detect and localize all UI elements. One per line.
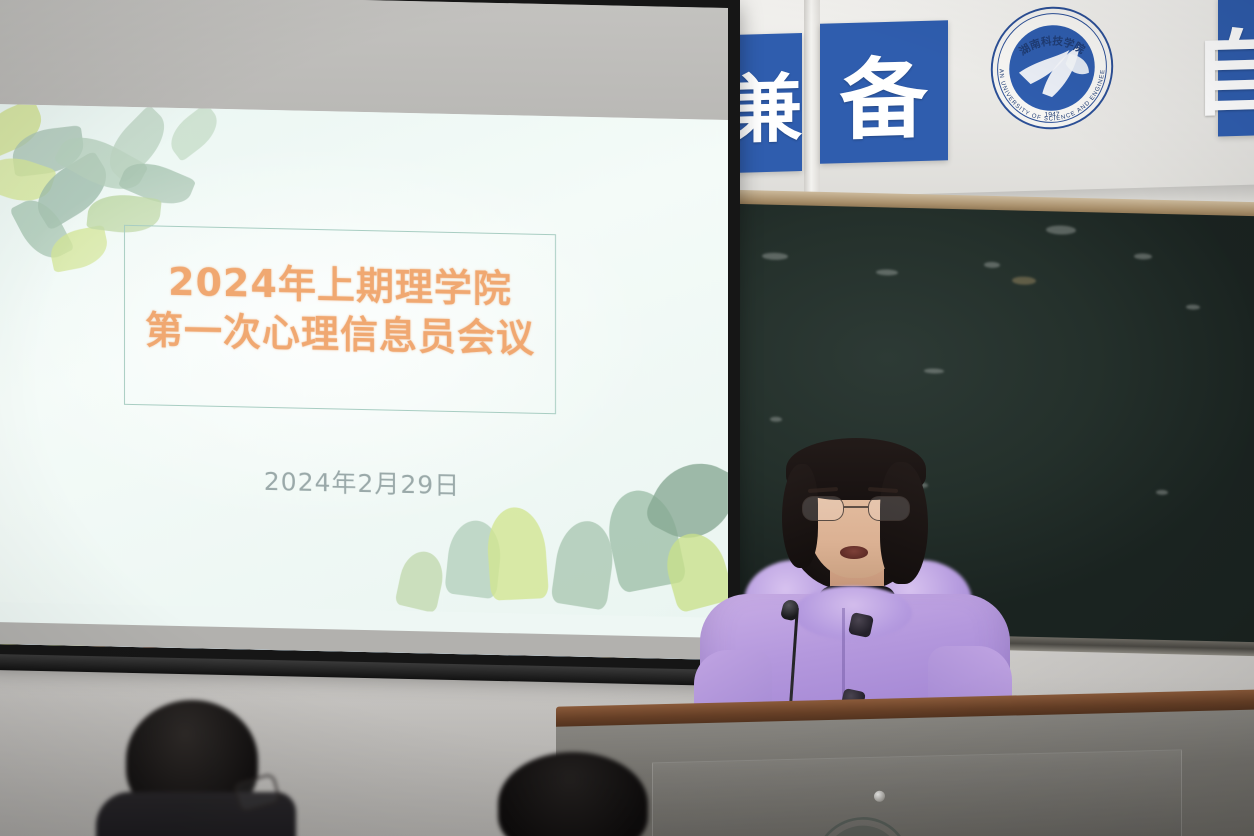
glasses-lens-right	[868, 496, 910, 521]
glasses-bridge	[844, 506, 868, 508]
coat-toggle-upper	[848, 612, 874, 638]
projection-screen-surface: 2024年上期理学院 第一次心理信息员会议 2024年2月29日 文件夹	[0, 0, 728, 660]
podium-body	[556, 709, 1254, 836]
slide-title-line-2: 第一次心理信息员会议	[124, 305, 556, 363]
projection-screen: 2024年上期理学院 第一次心理信息员会议 2024年2月29日 文件夹	[0, 0, 740, 678]
glasses-icon	[800, 496, 912, 522]
podium-front-panel	[652, 749, 1182, 836]
conference-room-scene: 兼 备 自 湖南科技学院 HUNAN UNIVERSITY OF SCIENCE	[0, 0, 1254, 836]
wall-pilaster	[804, 0, 820, 204]
wall-banner-zi: 自	[1218, 0, 1254, 137]
university-seal-icon: 湖南科技学院 HUNAN UNIVERSITY OF SCIENCE AND E…	[984, 0, 1120, 140]
screen-unlit-top-margin	[0, 0, 728, 120]
podium	[556, 689, 1254, 836]
wall-banner-bei: 备	[820, 20, 948, 164]
audience-member-left	[118, 700, 278, 836]
wall-banner-jian: 兼	[730, 33, 802, 173]
slide-title-line-1: 2024年上期理学院	[124, 257, 556, 315]
projected-desktop: 2024年上期理学院 第一次心理信息员会议 2024年2月29日 文件夹	[0, 104, 728, 660]
wall-banner-strip: 兼 备 自 湖南科技学院 HUNAN UNIVERSITY OF SCIENCE	[728, 0, 1254, 209]
audience-center-head	[498, 752, 648, 836]
seal-year: 1947	[1044, 111, 1059, 118]
presentation-slide: 2024年上期理学院 第一次心理信息员会议 2024年2月29日	[0, 104, 728, 618]
university-emblem-icon	[808, 810, 916, 836]
wall-banner-zi-char: 自	[1192, 0, 1254, 134]
speaker-mouth	[840, 546, 868, 559]
glasses-lens-left	[802, 496, 844, 521]
slide-title: 2024年上期理学院 第一次心理信息员会议	[124, 257, 556, 364]
slide-date: 2024年2月29日	[0, 456, 728, 508]
audience-member-center	[498, 752, 650, 836]
wall-banner-bei-char: 备	[839, 27, 928, 156]
speaker-hair-right	[880, 462, 928, 584]
